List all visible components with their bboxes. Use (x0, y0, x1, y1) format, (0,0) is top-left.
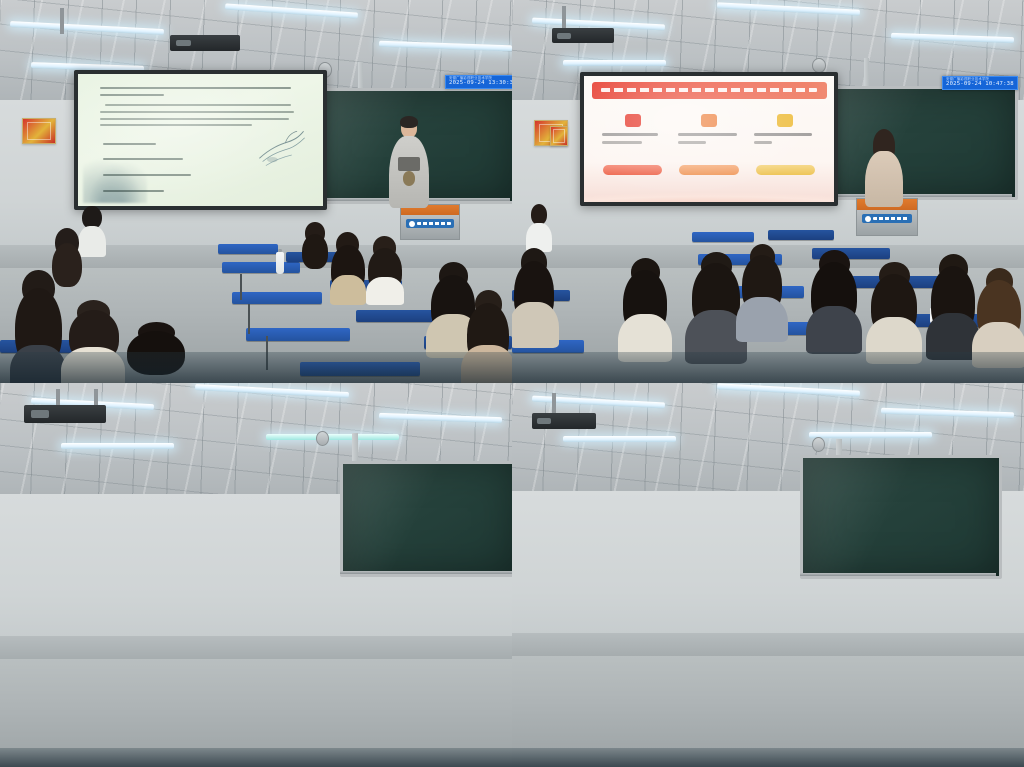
slide-card (752, 114, 820, 180)
photo-panel-top-right[interactable]: 安徽广播影视职业技术学院 2025-09-24 10:47:38 (512, 0, 1024, 383)
projection-screen[interactable] (74, 70, 327, 210)
slide-card (675, 114, 743, 180)
chalk-rail (812, 194, 1012, 197)
ceiling-speaker (812, 437, 825, 452)
audience-member (620, 258, 670, 358)
blackboard (340, 461, 512, 577)
audience-member (300, 222, 330, 272)
crane-ink-illustration (254, 122, 308, 175)
shield-icon (777, 114, 793, 127)
audience-member (366, 236, 404, 302)
slide-classical-chinese (78, 74, 323, 206)
foreground-desk-edge (0, 748, 512, 767)
audience-member (330, 232, 366, 302)
audience-member (526, 204, 552, 250)
timestamp-value: 2025-09-24 13:30:38 (449, 81, 512, 87)
timestamp-value: 2025-09-24 10:47:38 (946, 82, 1014, 88)
audience-member (928, 254, 978, 356)
slide-header-bar (592, 82, 827, 98)
projector (170, 35, 240, 51)
photo-panel-top-left[interactable]: 安徽广播影视职业技术学院 2025-09-24 13:30:38 (0, 0, 512, 383)
projector-arm (552, 393, 556, 415)
audience-member (974, 268, 1024, 364)
wall-poster (22, 118, 56, 144)
presenter (864, 132, 904, 206)
audience-member (868, 262, 920, 360)
projector-arm (60, 8, 64, 34)
audience-member (688, 252, 744, 360)
audience-member (738, 244, 786, 338)
audience-member (512, 248, 556, 344)
projector (24, 405, 106, 423)
projector-arm (562, 6, 566, 30)
podium-nameplate (406, 219, 455, 228)
presenter (386, 118, 432, 210)
slide-card (599, 114, 667, 180)
chalk-rail (340, 571, 512, 574)
blackboard (800, 455, 1002, 579)
ceiling-speaker (316, 431, 329, 446)
chalk-rail (800, 573, 996, 576)
photo-panel-bottom-right[interactable]: 安徽广播影视职业技术学院 2025-09-24 10:28:45 (512, 383, 1024, 767)
projection-screen[interactable] (580, 72, 838, 206)
photo-collage: 安徽广播影视职业技术学院 2025-09-24 13:30:38 (0, 0, 1024, 767)
blackboard (812, 86, 1018, 200)
foreground-desk-edge (512, 352, 1024, 383)
timestamp-overlay: 安徽广播影视职业技术学院 2025-09-24 10:47:38 (942, 76, 1018, 90)
projector (532, 413, 596, 429)
slide-three-cards (584, 76, 834, 202)
ceiling-speaker (812, 58, 826, 73)
water-bottle (276, 252, 284, 274)
audience-member (808, 250, 860, 350)
projector (552, 28, 614, 43)
foreground-desk-edge (512, 748, 1024, 767)
wall-poster (550, 126, 568, 146)
photo-panel-bottom-left[interactable]: PART 01 PART 02 (0, 383, 512, 767)
document-icon (625, 114, 641, 127)
podium-nameplate (862, 214, 912, 223)
lightbulb-icon (701, 114, 717, 127)
timestamp-overlay: 安徽广播影视职业技术学院 2025-09-24 13:30:38 (445, 75, 512, 89)
foreground-desk-edge (0, 352, 512, 383)
